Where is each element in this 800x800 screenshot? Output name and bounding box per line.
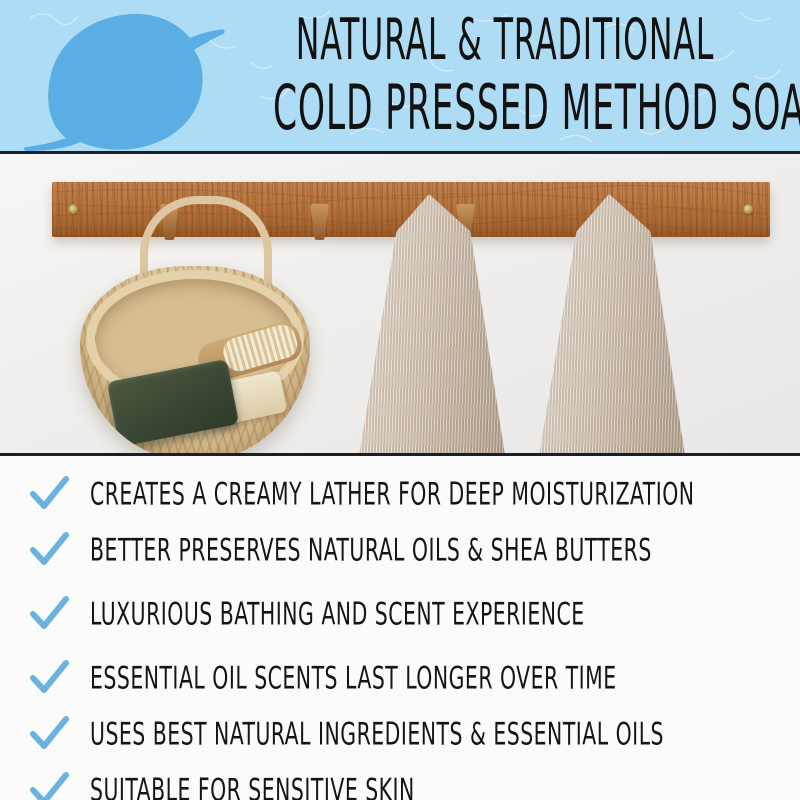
list-item-label: USES BEST NATURAL INGREDIENTS & ESSENTIA… [90, 718, 664, 749]
bird-silhouette-icon [18, 8, 233, 151]
product-infographic: NATURAL & TRADITIONAL COLD PRESSED METHO… [0, 0, 800, 800]
list-item: CREATES A CREAMY LATHER FOR DEEP MOISTUR… [0, 466, 800, 522]
list-item: USES BEST NATURAL INGREDIENTS & ESSENTIA… [0, 706, 800, 762]
check-icon [28, 769, 70, 800]
check-icon [28, 529, 70, 571]
list-item: BETTER PRESERVES NATURAL OILS & SHEA BUT… [0, 522, 800, 578]
rack-screw [743, 204, 754, 215]
check-icon [28, 593, 70, 635]
benefits-checklist: CREATES A CREAMY LATHER FOR DEEP MOISTUR… [0, 456, 800, 800]
check-icon [28, 473, 70, 515]
check-icon [28, 713, 70, 755]
check-icon [28, 657, 70, 699]
product-photo [0, 154, 800, 453]
list-item-label: LUXURIOUS BATHING AND SCENT EXPERIENCE [90, 598, 585, 629]
list-item: SUITABLE FOR SENSITIVE SKIN [0, 762, 800, 800]
list-item: LUXURIOUS BATHING AND SCENT EXPERIENCE [0, 586, 800, 642]
page-title-line-1: NATURAL & TRADITIONAL [273, 12, 737, 69]
rack-screw [68, 204, 79, 215]
list-item-label: BETTER PRESERVES NATURAL OILS & SHEA BUT… [90, 534, 652, 565]
list-item-label: CREATES A CREAMY LATHER FOR DEEP MOISTUR… [90, 478, 695, 509]
page-title-line-2: COLD PRESSED METHOD SOAP BARS [273, 77, 737, 139]
list-item: ESSENTIAL OIL SCENTS LAST LONGER OVER TI… [0, 650, 800, 706]
list-item-label: ESSENTIAL OIL SCENTS LAST LONGER OVER TI… [90, 662, 617, 693]
header-title-group: NATURAL & TRADITIONAL COLD PRESSED METHO… [215, 6, 795, 125]
header-banner: NATURAL & TRADITIONAL COLD PRESSED METHO… [0, 0, 800, 151]
list-item-label: SUITABLE FOR SENSITIVE SKIN [90, 774, 415, 800]
wicker-basket [80, 266, 310, 453]
